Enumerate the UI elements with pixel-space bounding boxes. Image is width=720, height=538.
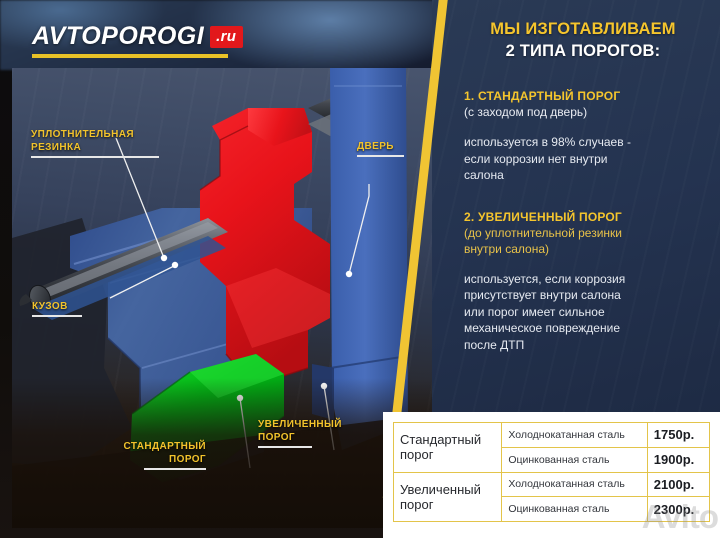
callout-standard-sill: СТАНДАРТНЫЙ ПОРОГ <box>93 440 206 470</box>
section-enlarged-body: используется, если коррозия присутствует… <box>464 271 706 354</box>
callout-door: ДВЕРЬ <box>357 140 404 157</box>
logo-row: AVTOPOROGI .ru <box>32 22 243 51</box>
callout-body: КУЗОВ <box>32 300 82 317</box>
brand-logo[interactable]: AVTOPOROGI .ru <box>32 22 243 58</box>
callout-enlarged-sill-rule <box>258 446 312 448</box>
leader-dot-door <box>346 271 352 277</box>
price-category-enlarged: Увеличенный порог <box>394 472 502 522</box>
table-row: Увеличенный порог Холоднокатанная сталь … <box>394 472 710 497</box>
section-enlarged-subtitle: (до уплотнительной резинки внутри салона… <box>464 225 706 257</box>
info-panel-inner: МЫ ИЗГОТАВЛИВАЕМ 2 ТИПА ПОРОГОВ: 1. СТАН… <box>432 0 720 353</box>
spacer-1 <box>464 62 706 88</box>
price-material: Холоднокатанная сталь <box>502 423 647 448</box>
leader-dot-seal <box>161 255 167 261</box>
callout-seal-rubber: УПЛОТНИТЕЛЬНАЯ РЕЗИНКА <box>31 128 159 158</box>
callout-body-rule <box>32 315 82 317</box>
price-material: Оцинкованная сталь <box>502 447 647 472</box>
price-table-area: Стандартный порог Холоднокатанная сталь … <box>383 412 720 538</box>
section-enlarged-title: 2. УВЕЛИЧЕННЫЙ ПОРОГ <box>464 209 706 225</box>
spacer-3 <box>464 184 706 209</box>
price-material: Оцинкованная сталь <box>502 497 647 522</box>
table-row: Стандартный порог Холоднокатанная сталь … <box>394 423 710 448</box>
spacer-2 <box>464 120 706 134</box>
price-material: Холоднокатанная сталь <box>502 472 647 497</box>
callout-standard-sill-label: СТАНДАРТНЫЙ ПОРОГ <box>93 440 206 466</box>
section-standard-subtitle: (с заходом под дверь) <box>464 104 706 120</box>
callout-standard-sill-rule <box>144 468 206 470</box>
poster-root: AVTOPOROGI .ru УПЛОТНИТЕЛЬНАЯ РЕЗИНКА ДВ… <box>0 0 720 538</box>
section-standard-title: 1. СТАНДАРТНЫЙ ПОРОГ <box>464 88 706 104</box>
price-table: Стандартный порог Холоднокатанная сталь … <box>393 422 710 522</box>
headline-line-1: МЫ ИЗГОТАВЛИВАЕМ <box>464 18 706 40</box>
callout-door-rule <box>357 155 404 157</box>
section-standard-body: используется в 98% случаев - если корроз… <box>464 134 706 184</box>
price-value: 2300р. <box>647 497 709 522</box>
callout-seal-rubber-label: УПЛОТНИТЕЛЬНАЯ РЕЗИНКА <box>31 128 159 154</box>
callout-enlarged-sill: УВЕЛИЧЕННЫЙ ПОРОГ <box>258 418 368 448</box>
section-enlarged: 2. УВЕЛИЧЕННЫЙ ПОРОГ (до уплотнительной … <box>464 209 706 354</box>
price-category-standard: Стандартный порог <box>394 423 502 473</box>
callout-body-label: КУЗОВ <box>32 300 82 313</box>
callout-door-label: ДВЕРЬ <box>357 140 404 153</box>
leader-dot-body <box>172 262 178 268</box>
logo-wordmark: AVTOPOROGI <box>32 22 204 51</box>
callout-enlarged-sill-label: УВЕЛИЧЕННЫЙ ПОРОГ <box>258 418 368 444</box>
price-table-body: Стандартный порог Холоднокатанная сталь … <box>394 423 710 522</box>
spacer-4 <box>464 257 706 271</box>
callout-seal-rubber-rule <box>31 156 159 158</box>
price-value: 1750р. <box>647 423 709 448</box>
logo-underline <box>32 54 228 58</box>
price-value: 2100р. <box>647 472 709 497</box>
logo-tld-badge: .ru <box>210 26 243 48</box>
price-value: 1900р. <box>647 447 709 472</box>
headline-line-2: 2 ТИПА ПОРОГОВ: <box>464 40 706 62</box>
section-standard: 1. СТАНДАРТНЫЙ ПОРОГ (с заходом под двер… <box>464 88 706 184</box>
